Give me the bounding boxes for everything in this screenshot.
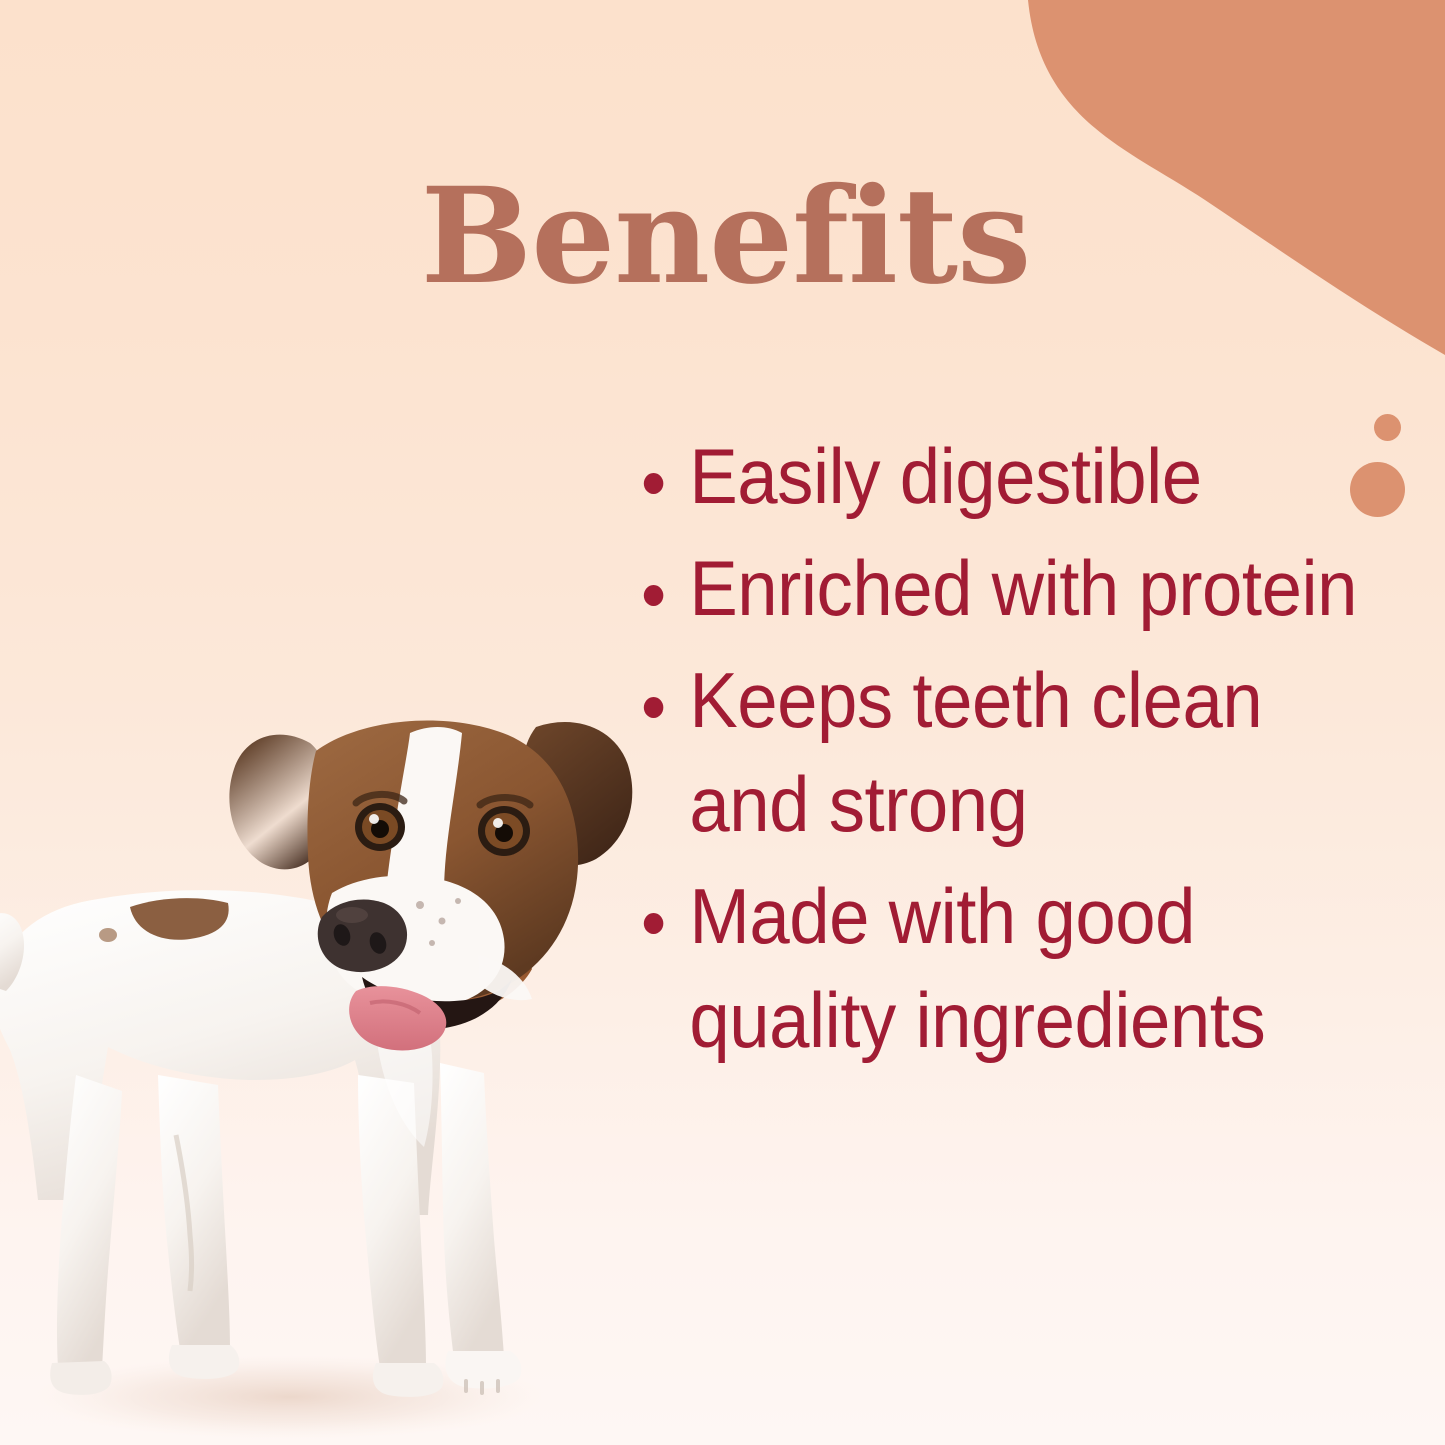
list-item: Made with good quality ingredients xyxy=(628,864,1363,1072)
list-item: Keeps teeth clean and strong xyxy=(628,648,1363,856)
list-item: Easily digestible xyxy=(628,424,1363,528)
benefits-list: Easily digestible Enriched with protein … xyxy=(628,424,1418,1080)
page-title: Benefits xyxy=(0,168,1445,307)
list-item: Enriched with protein xyxy=(628,536,1363,640)
dog-photo xyxy=(0,655,660,1445)
benefits-poster: Benefits Easily digestible Enriched with… xyxy=(0,0,1445,1445)
